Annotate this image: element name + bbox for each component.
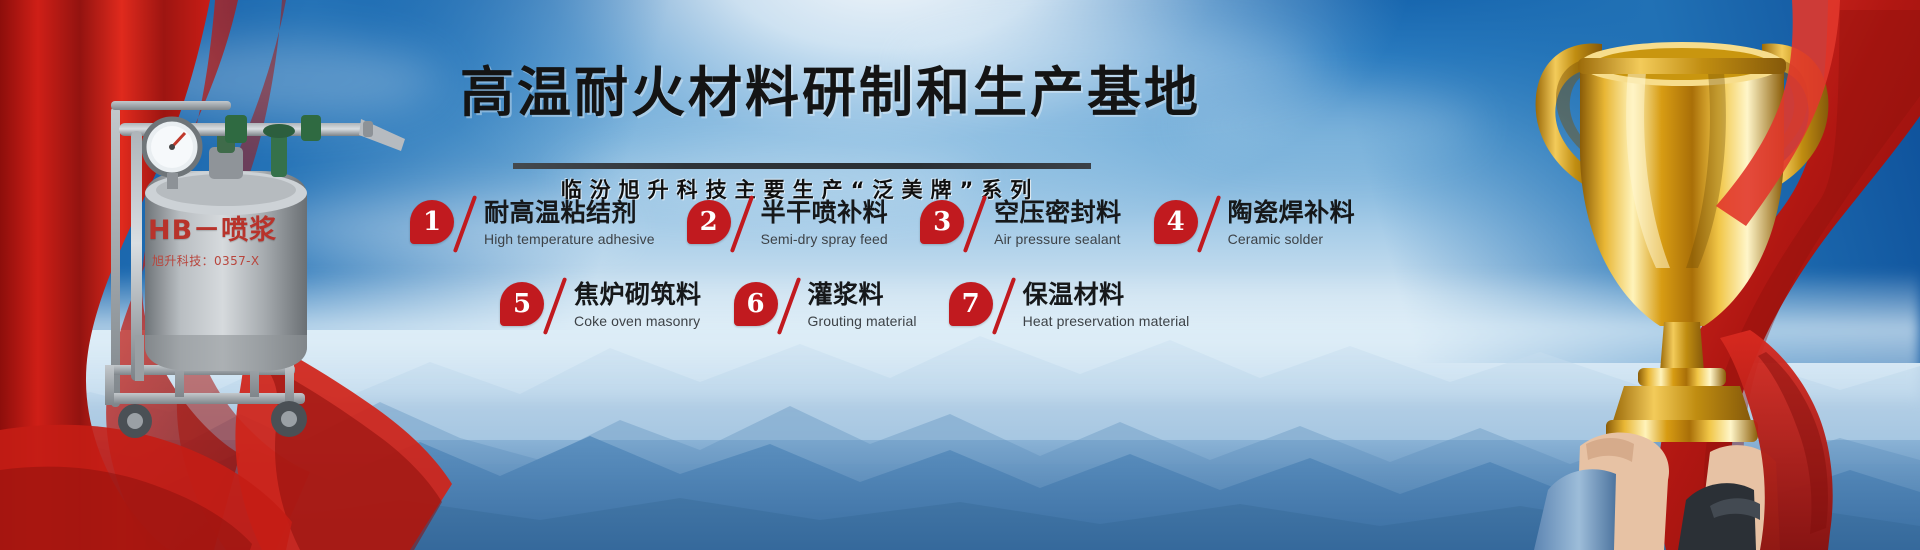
product-name-en: Ceramic solder (1228, 230, 1356, 249)
product-item[interactable]: 4 陶瓷焊补料 Ceramic solder (1154, 198, 1356, 254)
product-name-cn: 陶瓷焊补料 (1228, 198, 1356, 228)
badge-number: 6 (734, 282, 778, 326)
product-labels: 陶瓷焊补料 Ceramic solder (1224, 198, 1356, 249)
product-name-cn: 保温材料 (1023, 280, 1190, 310)
number-badge-icon: 3 (920, 200, 964, 252)
product-labels: 焦炉砌筑料 Coke oven masonry (570, 280, 702, 331)
promo-banner: HB－喷浆 旭升科技：0357-X (0, 0, 1920, 550)
product-name-en: Semi-dry spray feed (761, 230, 889, 249)
product-item[interactable]: 5 焦炉砌筑料 Coke oven masonry (500, 280, 702, 336)
title-divider (513, 163, 1091, 169)
product-name-en: Heat preservation material (1023, 312, 1190, 331)
product-name-en: High temperature adhesive (484, 230, 655, 249)
product-labels: 空压密封料 Air pressure sealant (990, 198, 1122, 249)
product-name-en: Coke oven masonry (574, 312, 702, 331)
page-title: 高温耐火材料研制和生产基地 (460, 60, 1140, 124)
product-item[interactable]: 1 耐高温粘结剂 High temperature adhesive (410, 198, 655, 254)
slash-icon (454, 198, 480, 254)
product-item[interactable]: 7 保温材料 Heat preservation material (949, 280, 1190, 336)
number-badge-icon: 7 (949, 282, 993, 334)
product-name-cn: 灌浆料 (808, 280, 917, 310)
number-badge-icon: 2 (687, 200, 731, 252)
product-list: 1 耐高温粘结剂 High temperature adhesive 2 (400, 198, 1220, 338)
product-labels: 耐高温粘结剂 High temperature adhesive (480, 198, 655, 249)
slash-icon (544, 280, 570, 336)
number-badge-icon: 5 (500, 282, 544, 334)
product-name-en: Air pressure sealant (994, 230, 1122, 249)
badge-number: 5 (500, 282, 544, 326)
slash-icon (1198, 198, 1224, 254)
product-labels: 半干喷补料 Semi-dry spray feed (757, 198, 889, 249)
product-name-cn: 耐高温粘结剂 (484, 198, 655, 228)
product-labels: 灌浆料 Grouting material (804, 280, 917, 331)
product-labels: 保温材料 Heat preservation material (1019, 280, 1190, 331)
slash-icon (964, 198, 990, 254)
product-item[interactable]: 3 空压密封料 Air pressure sealant (920, 198, 1122, 254)
product-item[interactable]: 2 半干喷补料 Semi-dry spray feed (687, 198, 889, 254)
badge-number: 2 (687, 200, 731, 244)
product-name-en: Grouting material (808, 312, 917, 331)
product-item[interactable]: 6 灌浆料 Grouting material (734, 280, 917, 336)
badge-number: 4 (1154, 200, 1198, 244)
badge-number: 3 (920, 200, 964, 244)
product-row-2: 5 焦炉砌筑料 Coke oven masonry 6 灌浆料 (500, 280, 1189, 336)
slash-icon (778, 280, 804, 336)
slash-icon (731, 198, 757, 254)
product-row-1: 1 耐高温粘结剂 High temperature adhesive 2 (410, 198, 1355, 254)
banner-content: 高温耐火材料研制和生产基地 临汾旭升科技主要生产“泛美牌”系列 1 耐高温粘结剂… (0, 0, 1920, 550)
product-name-cn: 焦炉砌筑料 (574, 280, 702, 310)
badge-number: 1 (410, 200, 454, 244)
badge-number: 7 (949, 282, 993, 326)
number-badge-icon: 1 (410, 200, 454, 252)
number-badge-icon: 4 (1154, 200, 1198, 252)
slash-icon (993, 280, 1019, 336)
product-name-cn: 半干喷补料 (761, 198, 889, 228)
number-badge-icon: 6 (734, 282, 778, 334)
product-name-cn: 空压密封料 (994, 198, 1122, 228)
